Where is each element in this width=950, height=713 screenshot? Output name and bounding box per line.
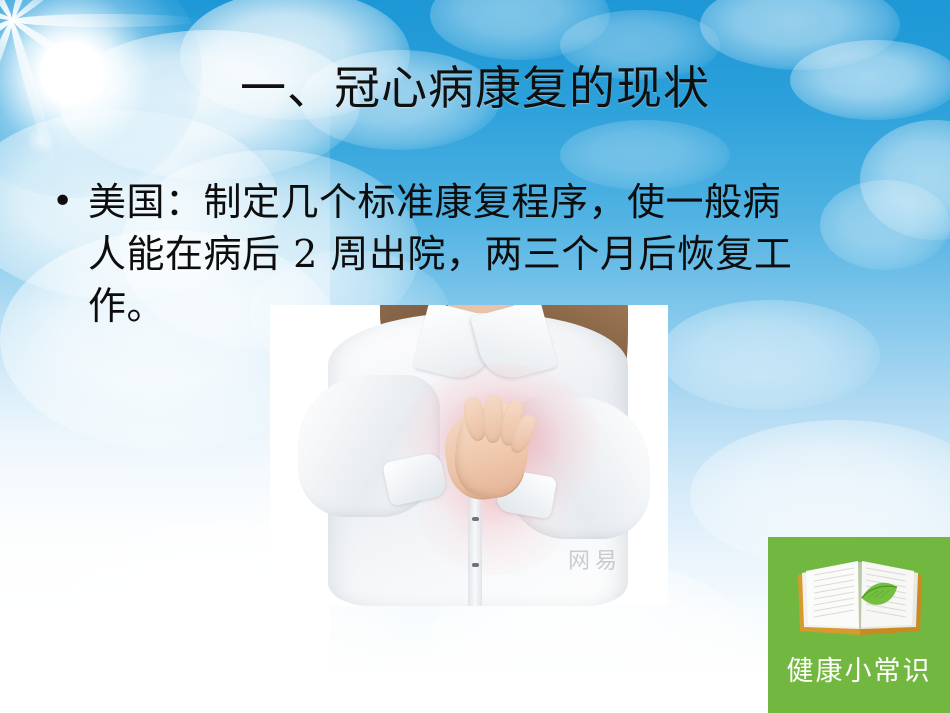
bullet-line: 美国：制定几个标准康复程序，使一般病 xyxy=(88,176,918,228)
open-book-icon xyxy=(790,549,930,641)
photo-watermark: 网易 xyxy=(568,543,622,575)
slide-canvas: 一、冠心病康复的现状 • 美国：制定几个标准康复程序，使一般病 人能在病后 2 … xyxy=(0,0,950,713)
photo-shirt-placket xyxy=(468,491,482,606)
bullet-marker-icon: • xyxy=(52,176,88,228)
logo-caption: 健康小常识 xyxy=(768,649,950,688)
photo-shirt-button xyxy=(472,563,479,567)
page-title: 一、冠心病康复的现状 xyxy=(0,58,950,118)
health-tips-logo[interactable]: 健康小常识 xyxy=(768,537,950,713)
bullet-line: 人能在病后 2 周出院，两三个月后恢复工 xyxy=(88,228,918,280)
content-photo: 网易 xyxy=(270,305,668,606)
photo-shirt-button xyxy=(472,517,479,521)
